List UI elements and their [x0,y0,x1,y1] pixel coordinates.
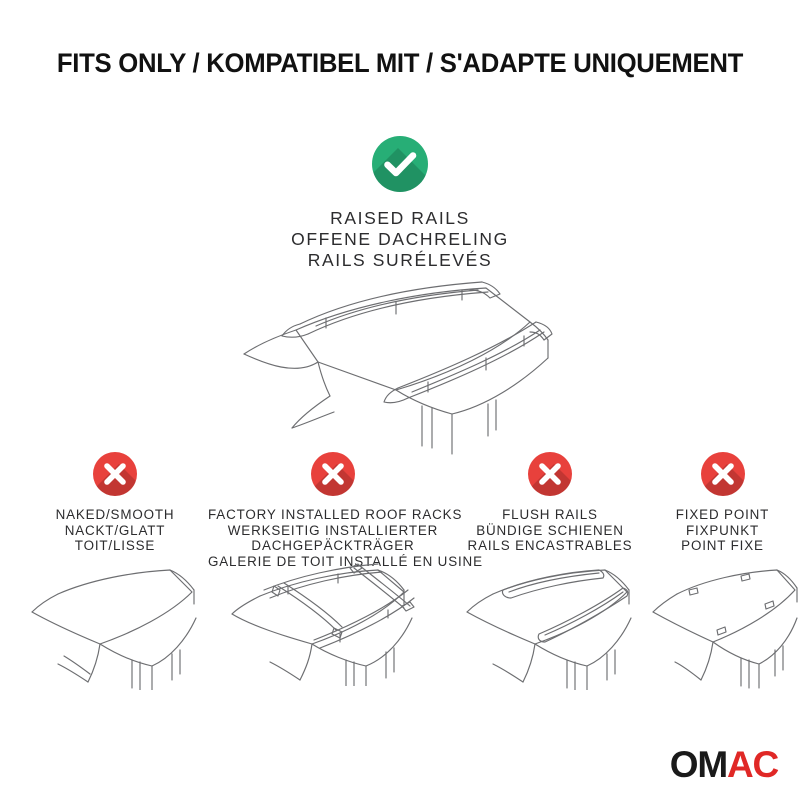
compatible-label-en: RAISED RAILS [0,208,800,229]
x-circle-icon [701,452,745,496]
item-label-fr: POINT FIXE [645,538,800,554]
item-label-de-2: DACHGEPÄCKTRÄGER [208,538,458,554]
item-label-de: BÜNDIGE SCHIENEN [455,523,645,539]
item-labels: NAKED/SMOOTH NACKT/GLATT TOIT/LISSE [20,507,210,554]
x-circle-icon [311,452,355,496]
item-label-de: FIXPUNKT [645,523,800,539]
item-label-en: NAKED/SMOOTH [20,507,210,523]
item-labels: FLUSH RAILS BÜNDIGE SCHIENEN RAILS ENCAS… [455,507,645,554]
item-label-de: NACKT/GLATT [20,523,210,539]
x-circle-icon [93,452,137,496]
item-label-fr: TOIT/LISSE [20,538,210,554]
compatible-label-fr: RAILS SURÉLEVÉS [0,250,800,271]
incompatible-section: NAKED/SMOOTH NACKT/GLATT TOIT/LISSE [0,452,800,702]
item-label-en: FACTORY INSTALLED ROOF RACKS [208,507,458,523]
header: FITS ONLY / KOMPATIBEL MIT / S'ADAPTE UN… [0,48,800,79]
compatible-label-de: OFFENE DACHRELING [0,229,800,250]
car-roof-fixed-point-illustration [645,560,800,695]
item-label-fr: RAILS ENCASTRABLES [455,538,645,554]
logo-text-ac: AC [727,744,778,786]
item-label-en: FLUSH RAILS [455,507,645,523]
compatible-labels: RAISED RAILS OFFENE DACHRELING RAILS SUR… [0,208,800,271]
x-circle-icon [528,452,572,496]
item-labels: FIXED POINT FIXPUNKT POINT FIXE [645,507,800,554]
page-title: FITS ONLY / KOMPATIBEL MIT / S'ADAPTE UN… [12,48,788,79]
incompatible-item-factory-rack: FACTORY INSTALLED ROOF RACKS WERKSEITIG … [208,452,458,569]
check-circle-icon [372,136,428,192]
logo-text-om: OM [670,744,727,786]
car-roof-flush-rails-illustration [455,560,645,695]
omac-logo: OMAC [670,744,778,778]
incompatible-item-flush-rails: FLUSH RAILS BÜNDIGE SCHIENEN RAILS ENCAS… [455,452,645,554]
item-label-en: FIXED POINT [645,507,800,523]
car-roof-raised-rails-illustration [200,278,600,458]
car-roof-naked-illustration [20,560,210,695]
incompatible-item-fixed-point: FIXED POINT FIXPUNKT POINT FIXE [645,452,800,554]
compatible-section: RAISED RAILS OFFENE DACHRELING RAILS SUR… [0,136,800,271]
item-label-de-1: WERKSEITIG INSTALLIERTER [208,523,458,539]
car-roof-factory-rack-illustration [208,556,458,691]
incompatible-item-naked-smooth: NAKED/SMOOTH NACKT/GLATT TOIT/LISSE [20,452,210,554]
